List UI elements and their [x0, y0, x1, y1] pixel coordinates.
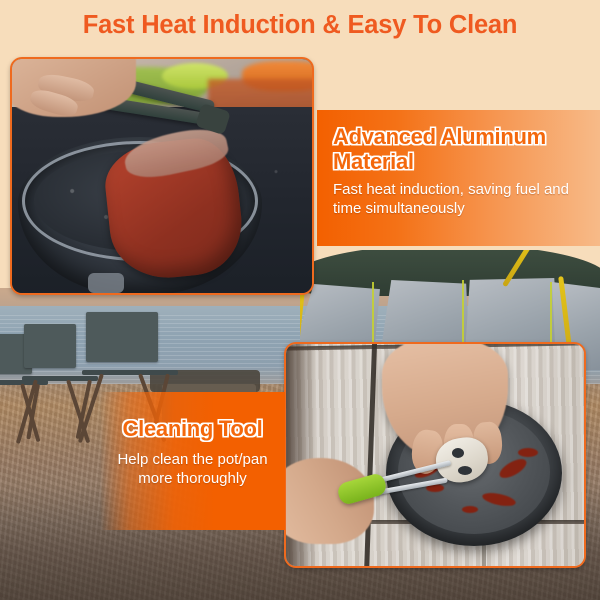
- pan-foot: [88, 273, 124, 293]
- sponge-hole: [452, 448, 464, 458]
- page-title: Fast Heat Induction & Easy To Clean: [83, 11, 518, 40]
- photo-cleaning-pan: [284, 342, 586, 568]
- poster-title-bar: Fast Heat Induction & Easy To Clean: [0, 0, 600, 50]
- sauce-residue: [462, 506, 478, 513]
- sauce-residue: [518, 448, 538, 457]
- callout-description: Fast heat induction, saving fuel and tim…: [333, 180, 584, 218]
- callout-title: Cleaning Tool: [100, 416, 285, 441]
- photo-steak-in-pan: [10, 57, 314, 295]
- callout-title: Advanced Aluminum Material: [333, 124, 584, 174]
- product-feature-poster: Advanced Aluminum Material Fast heat ind…: [0, 0, 600, 600]
- callout-cleaning-tool: Cleaning Tool Help clean the pot/pan mor…: [100, 392, 285, 530]
- callout-description: Help clean the pot/pan more thoroughly: [100, 450, 285, 488]
- sponge-hole: [458, 466, 472, 475]
- callout-advanced-aluminum-material: Advanced Aluminum Material Fast heat ind…: [317, 110, 600, 246]
